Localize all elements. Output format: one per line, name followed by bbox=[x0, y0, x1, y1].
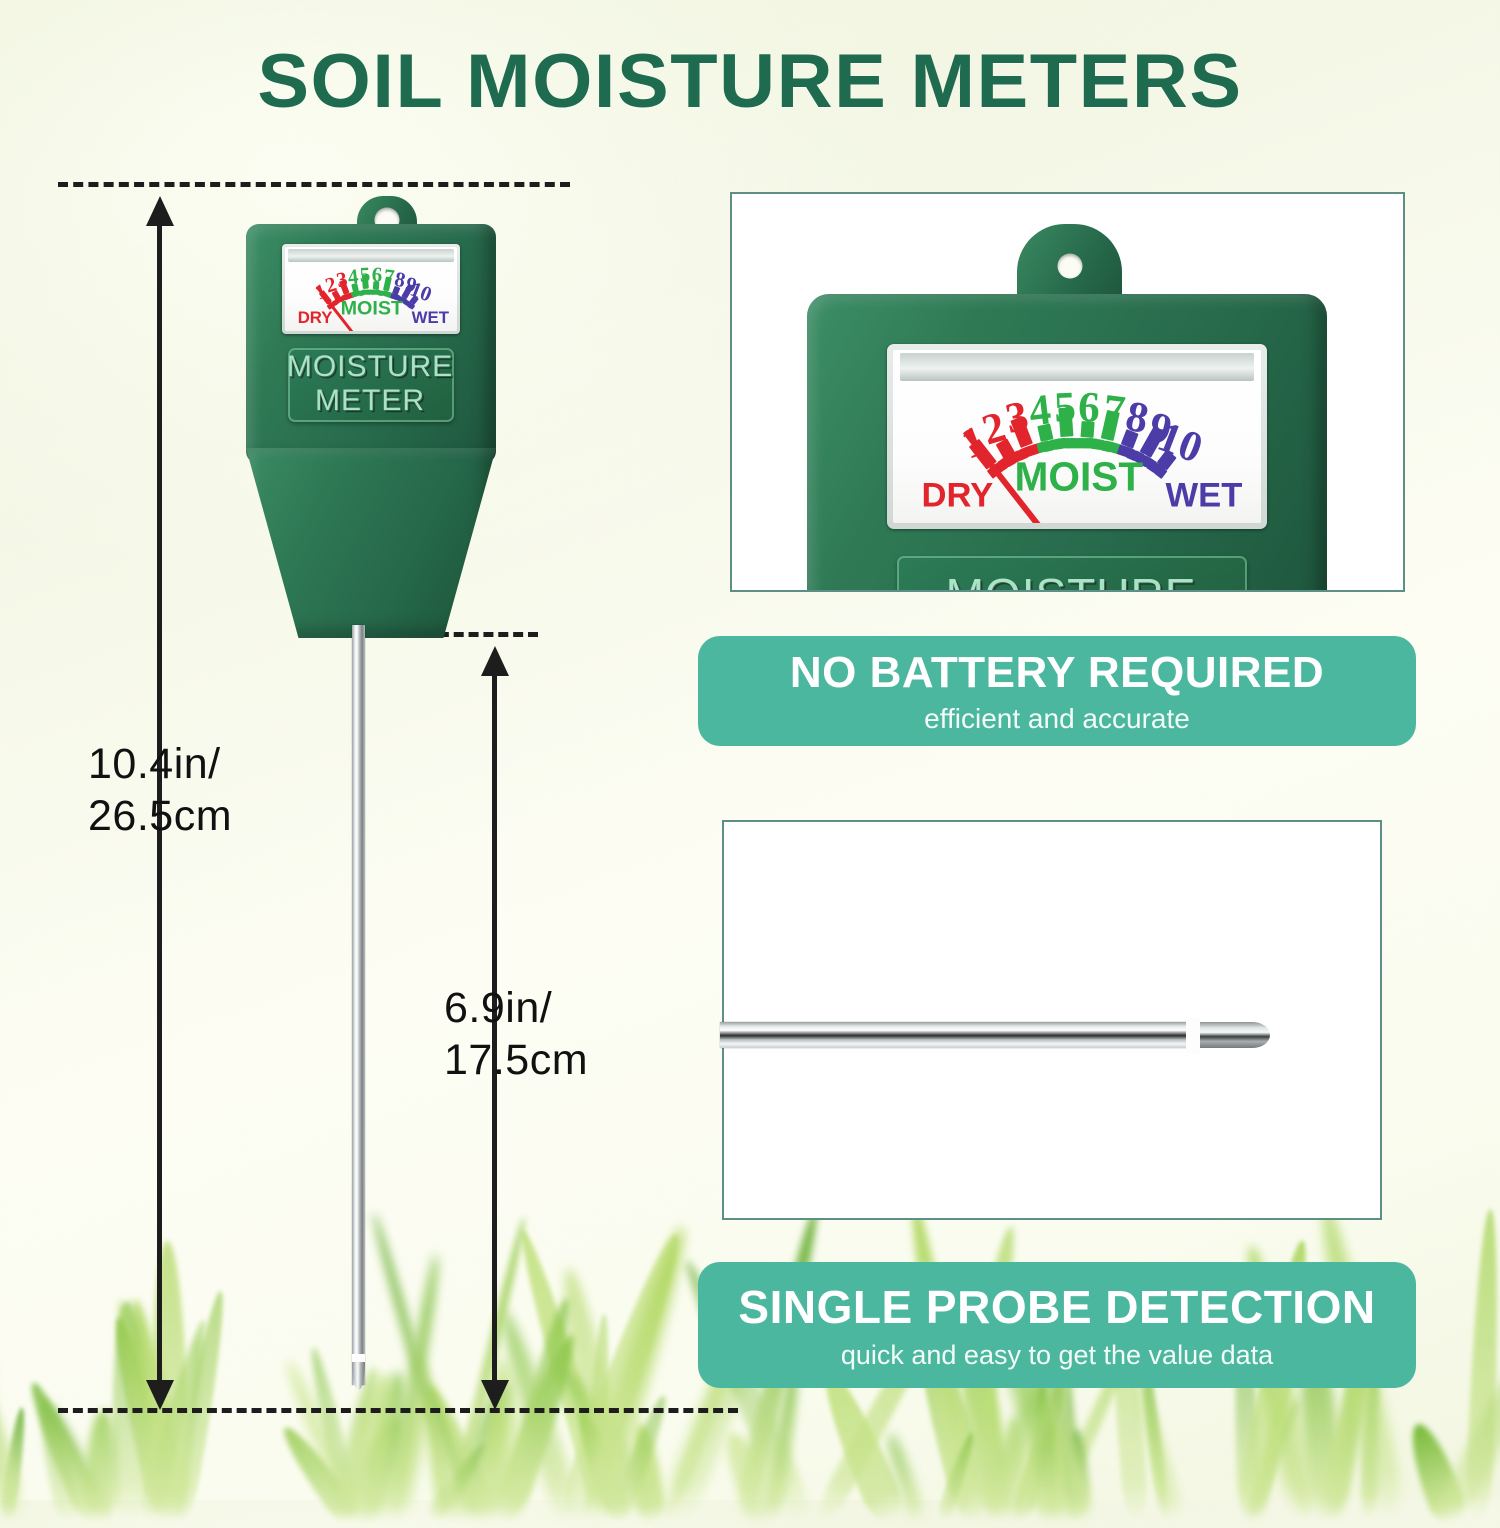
grass-blade bbox=[412, 1359, 486, 1523]
grass-blade bbox=[32, 1395, 83, 1522]
gauge-face-closeup: 12345678910DRYMOISTWET bbox=[893, 350, 1261, 523]
gauge-zone-label-moist: MOIST bbox=[1014, 454, 1143, 501]
grass-blade bbox=[363, 1369, 415, 1522]
gauge-zone-label-wet: WET bbox=[1166, 477, 1243, 516]
grass-blade bbox=[1433, 1307, 1500, 1526]
grass-blade bbox=[445, 1216, 530, 1520]
grass-blade bbox=[1248, 1398, 1289, 1522]
feature-banner-no-battery-subtitle: efficient and accurate bbox=[924, 703, 1190, 735]
gauge-zone-label-dry: DRY bbox=[922, 477, 994, 516]
plate-text-line2: METER bbox=[316, 385, 426, 419]
dimension-label-total-line2: 26.5cm bbox=[88, 790, 232, 842]
probe-rod-closeup bbox=[720, 1022, 1190, 1048]
grass-blade bbox=[425, 1406, 452, 1520]
grass-blade bbox=[1401, 1418, 1470, 1527]
gauge-zone-label-dry: DRY bbox=[298, 308, 333, 328]
closeup-plate-text: MOISTURE bbox=[947, 569, 1198, 590]
grass-blade bbox=[1039, 1420, 1071, 1523]
grass-blade bbox=[274, 1422, 362, 1526]
closeup-gauge-card: 12345678910DRYMOISTWET MOISTURE bbox=[730, 192, 1405, 592]
gauge-zone-label-moist: MOIST bbox=[341, 297, 404, 320]
grass-blade bbox=[1129, 1376, 1185, 1524]
grass-blade bbox=[368, 1211, 466, 1521]
grass-blade bbox=[576, 1220, 697, 1525]
dimension-arrow-total-bottom bbox=[146, 1380, 174, 1410]
grass-blade bbox=[1031, 1379, 1056, 1521]
gauge-face-main: 12345678910DRYMOISTWET bbox=[285, 247, 457, 331]
grass-blade bbox=[144, 1409, 167, 1520]
grass-blade bbox=[555, 1227, 693, 1528]
grass-blade bbox=[1243, 1396, 1303, 1523]
dimension-label-probe-line2: 17.5cm bbox=[444, 1034, 588, 1086]
grass-blade bbox=[552, 1266, 636, 1522]
grass-blade bbox=[583, 1314, 613, 1520]
closeup-clip: 12345678910DRYMOISTWET MOISTURE bbox=[732, 194, 1403, 590]
grass-blade bbox=[1063, 1427, 1090, 1522]
grass-blade bbox=[0, 1277, 31, 1526]
grass-blade bbox=[416, 1377, 483, 1523]
grass-blade bbox=[43, 1401, 115, 1523]
grass-blade bbox=[1009, 1382, 1072, 1523]
gauge-glass-strip-closeup bbox=[900, 353, 1253, 381]
gauge-tick-6 bbox=[1081, 421, 1095, 437]
grass-blade bbox=[137, 1318, 214, 1522]
probe-band-main bbox=[352, 1354, 365, 1362]
grass-blade bbox=[882, 1431, 927, 1524]
grass-blade bbox=[171, 1336, 207, 1522]
gauge-tick-4 bbox=[1037, 423, 1053, 441]
dimension-label-probe: 6.9in/ 17.5cm bbox=[444, 982, 588, 1087]
grass-blade bbox=[570, 1408, 633, 1524]
grass-blade bbox=[168, 1288, 232, 1524]
grass-blade bbox=[339, 1412, 413, 1526]
grass-blade bbox=[83, 1408, 120, 1521]
dimension-label-total-line1: 10.4in/ bbox=[88, 738, 232, 790]
page-title: SOIL MOISTURE METERS bbox=[0, 38, 1500, 125]
feature-banner-single-probe-title: SINGLE PROBE DETECTION bbox=[738, 1280, 1375, 1334]
grass-blade bbox=[0, 1406, 30, 1522]
grass-blade bbox=[1002, 1416, 1026, 1521]
probe-tip-main bbox=[352, 1362, 365, 1390]
meter-body-taper bbox=[246, 448, 496, 638]
grass-blade bbox=[510, 1228, 623, 1523]
dimension-line-top bbox=[58, 182, 570, 187]
feature-banner-no-battery-title: NO BATTERY REQUIRED bbox=[790, 648, 1324, 698]
probe-rod-main bbox=[352, 625, 365, 1385]
grass-blade bbox=[492, 1307, 583, 1526]
closeup-probe-card bbox=[722, 820, 1382, 1220]
grass-blade bbox=[1465, 1208, 1500, 1522]
grass-blade bbox=[340, 1371, 402, 1524]
grass-blade bbox=[423, 1439, 493, 1524]
grass-blade bbox=[105, 1315, 179, 1524]
probe-band-closeup bbox=[1186, 1018, 1200, 1054]
feature-banner-single-probe: SINGLE PROBE DETECTION quick and easy to… bbox=[698, 1262, 1416, 1388]
page-title-container: SOIL MOISTURE METERS bbox=[0, 38, 1500, 125]
feature-banner-single-probe-subtitle: quick and easy to get the value data bbox=[841, 1340, 1273, 1371]
grass-blade bbox=[714, 1425, 786, 1528]
grass-blade bbox=[1060, 1378, 1082, 1521]
closeup-embossed-plate: MOISTURE bbox=[897, 556, 1247, 590]
grass-blade bbox=[386, 1252, 444, 1522]
gauge-glass-strip bbox=[288, 249, 453, 262]
grass-blade bbox=[936, 1430, 979, 1524]
embossed-plate-main: MOISTURE METER bbox=[288, 348, 454, 422]
grass-blade bbox=[280, 1357, 364, 1524]
dimension-arrow-probe-bottom bbox=[481, 1380, 509, 1410]
gauge-window-main: 12345678910DRYMOISTWET bbox=[282, 244, 460, 334]
gauge-tick-6 bbox=[373, 281, 380, 289]
grass-blade bbox=[22, 1378, 104, 1524]
grass-blade bbox=[812, 1365, 909, 1527]
gauge-tick-5 bbox=[1058, 407, 1073, 437]
feature-banner-no-battery: NO BATTERY REQUIRED efficient and accura… bbox=[698, 636, 1416, 746]
grass-blade bbox=[488, 1328, 586, 1527]
grass-blade bbox=[627, 1422, 667, 1522]
dimension-label-probe-line1: 6.9in/ bbox=[444, 982, 588, 1034]
gauge-zone-label-wet: WET bbox=[412, 308, 449, 328]
grass-blade bbox=[551, 1362, 667, 1525]
dimension-label-total: 10.4in/ 26.5cm bbox=[88, 738, 232, 843]
plate-text-line1: MOISTURE bbox=[288, 351, 454, 385]
gauge-window-closeup: 12345678910DRYMOISTWET bbox=[887, 344, 1267, 529]
grass-blade bbox=[472, 1407, 514, 1520]
grass-blade bbox=[1027, 1390, 1064, 1522]
probe-tip-closeup bbox=[1200, 1022, 1270, 1048]
